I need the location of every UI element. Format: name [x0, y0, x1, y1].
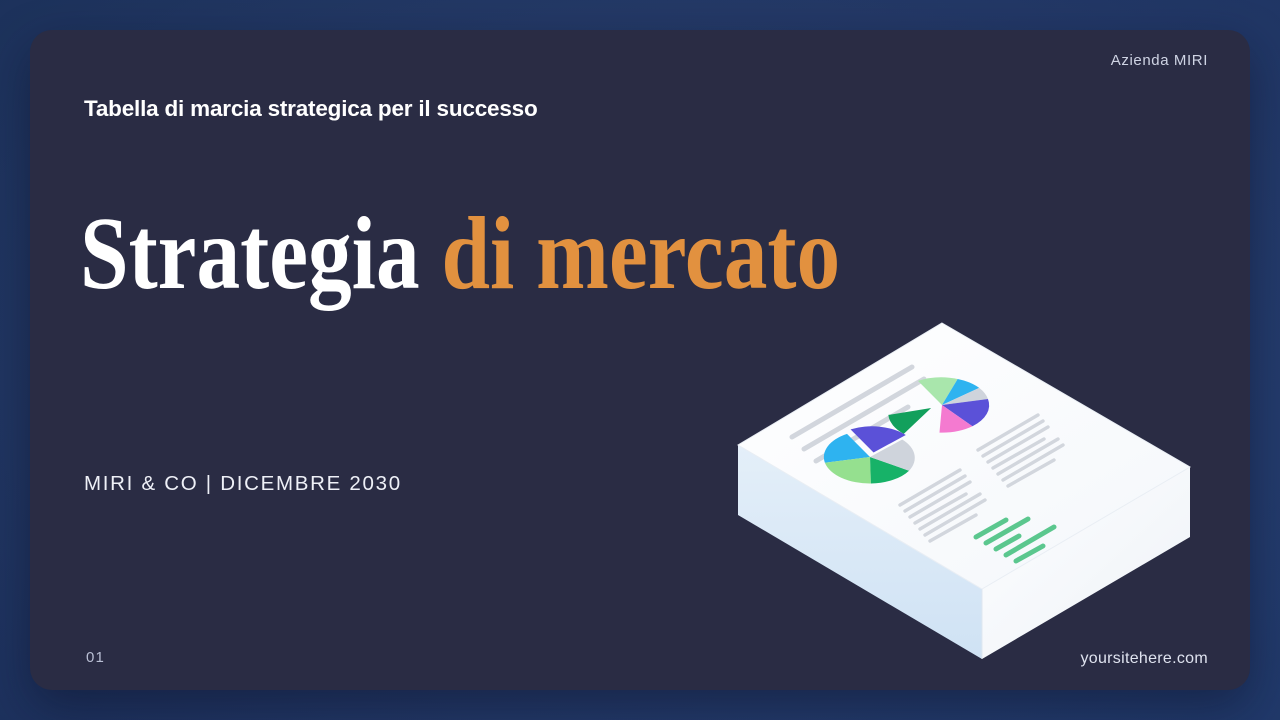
page-title-part-1: Strategia [80, 196, 420, 311]
slide-card: Azienda MIRI Tabella di marcia strategic… [30, 30, 1250, 690]
page-title: Strategia di mercato [80, 202, 840, 306]
page-number: 01 [86, 649, 105, 666]
company-name-label: Azienda MIRI [1111, 52, 1208, 69]
isometric-report-illustration [730, 315, 1210, 685]
slide-eyebrow: Tabella di marcia strategica per il succ… [84, 96, 538, 122]
slide-root: Azienda MIRI Tabella di marcia strategic… [0, 0, 1280, 720]
page-title-part-2: di mercato [441, 196, 840, 311]
slide-meta: MIRI & CO | DICEMBRE 2030 [84, 472, 402, 496]
